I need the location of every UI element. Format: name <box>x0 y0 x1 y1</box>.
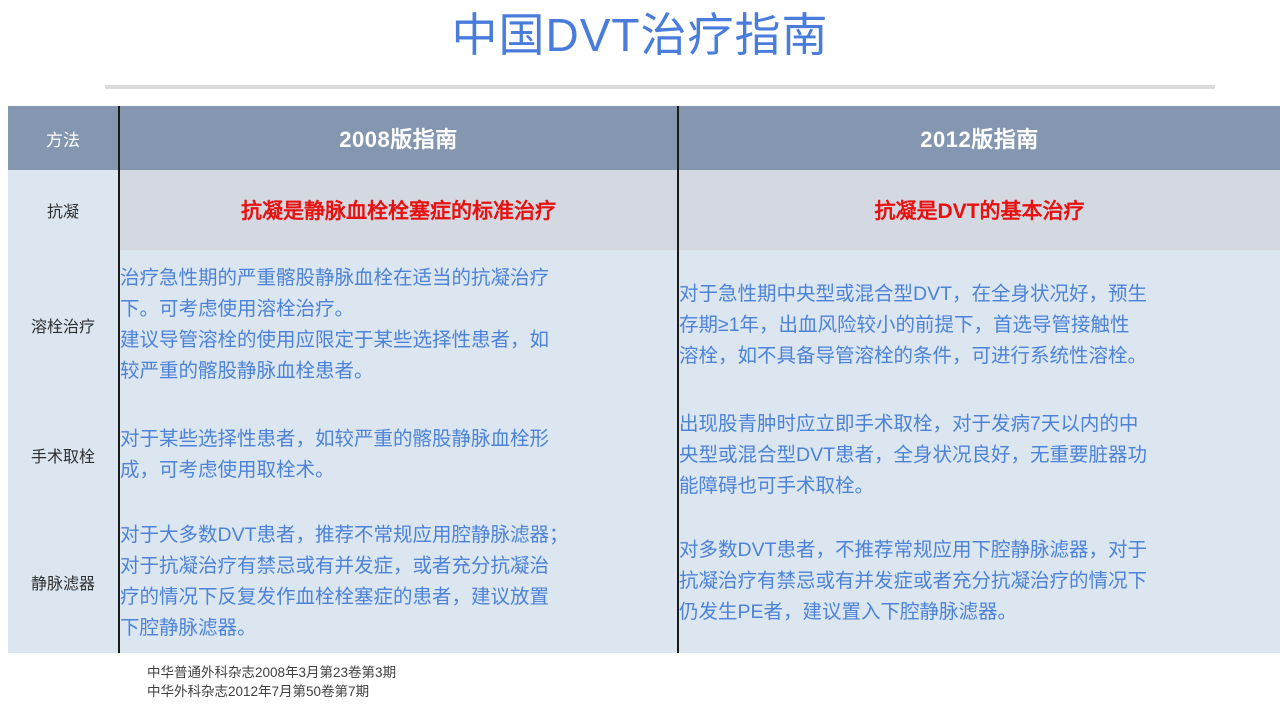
cell-2012-thrombolysis: 对于急性期中央型或混合型DVT，在全身状况好，预生 存期≥1年，出血风险较小的前… <box>678 250 1280 400</box>
table-row: 抗凝 抗凝是静脉血栓栓塞症的标准治疗 抗凝是DVT的基本治疗 <box>8 170 1280 250</box>
source-citations: 中华普通外科杂志2008年3月第23卷第3期 中华外科杂志2012年7月第50卷… <box>147 663 396 701</box>
text-line: 下。可考虑使用溶栓治疗。 <box>120 294 677 325</box>
column-header-2008: 2008版指南 <box>119 106 678 170</box>
cell-2012-vena-cava-filter: 对多数DVT患者，不推荐常规应用下腔静脉滤器，对于 抗凝治疗有禁忌或有并发症或者… <box>678 510 1280 653</box>
cell-2012-anticoagulation: 抗凝是DVT的基本治疗 <box>678 170 1280 250</box>
table-row: 静脉滤器 对于大多数DVT患者，推荐不常规应用腔静脉滤器； 对于抗凝治疗有禁忌或… <box>8 510 1280 653</box>
text-line: 治疗急性期的严重髂股静脉血栓在适当的抗凝治疗 <box>120 263 677 294</box>
text-line: 溶栓，如不具备导管溶栓的条件，可进行系统性溶栓。 <box>679 341 1280 372</box>
row-label-vena-cava-filter: 静脉滤器 <box>8 510 119 653</box>
text-line: 疗的情况下反复发作血栓栓塞症的患者，建议放置 <box>120 582 677 613</box>
text-line: 对于急性期中央型或混合型DVT，在全身状况好，预生 <box>679 279 1280 310</box>
citation-2012: 中华外科杂志2012年7月第50卷第7期 <box>147 682 396 701</box>
text-line: 能障碍也可手术取栓。 <box>679 471 1280 502</box>
cell-2008-thrombolysis: 治疗急性期的严重髂股静脉血栓在适当的抗凝治疗 下。可考虑使用溶栓治疗。 建议导管… <box>119 250 678 400</box>
row-label-surgical-thrombectomy: 手术取栓 <box>8 400 119 510</box>
cell-2008-vena-cava-filter: 对于大多数DVT患者，推荐不常规应用腔静脉滤器； 对于抗凝治疗有禁忌或有并发症，… <box>119 510 678 653</box>
text-line: 下腔静脉滤器。 <box>120 613 677 644</box>
dvt-guideline-comparison-table: 方法 2008版指南 2012版指南 抗凝 抗凝是静脉血栓栓塞症的标准治疗 抗凝… <box>8 106 1280 653</box>
table-header-row: 方法 2008版指南 2012版指南 <box>8 106 1280 170</box>
text-line: 较严重的髂股静脉血栓患者。 <box>120 356 677 387</box>
cell-2008-surgical-thrombectomy: 对于某些选择性患者，如较严重的髂股静脉血栓形 成，可考虑使用取栓术。 <box>119 400 678 510</box>
table-row: 溶栓治疗 治疗急性期的严重髂股静脉血栓在适当的抗凝治疗 下。可考虑使用溶栓治疗。… <box>8 250 1280 400</box>
cell-2008-anticoagulation: 抗凝是静脉血栓栓塞症的标准治疗 <box>119 170 678 250</box>
row-label-thrombolysis: 溶栓治疗 <box>8 250 119 400</box>
text-line: 对于抗凝治疗有禁忌或有并发症，或者充分抗凝治 <box>120 551 677 582</box>
title-divider <box>105 85 1215 89</box>
column-header-method: 方法 <box>8 106 119 170</box>
text-line: 抗凝治疗有禁忌或有并发症或者充分抗凝治疗的情况下 <box>679 566 1280 597</box>
citation-2008: 中华普通外科杂志2008年3月第23卷第3期 <box>147 663 396 682</box>
row-label-anticoagulation: 抗凝 <box>8 170 119 250</box>
text-line: 存期≥1年，出血风险较小的前提下，首选导管接触性 <box>679 310 1280 341</box>
text-line: 对多数DVT患者，不推荐常规应用下腔静脉滤器，对于 <box>679 535 1280 566</box>
text-line: 央型或混合型DVT患者，全身状况良好，无重要脏器功 <box>679 440 1280 471</box>
page-title: 中国DVT治疗指南 <box>0 4 1280 66</box>
text-line: 出现股青肿时应立即手术取栓，对于发病7天以内的中 <box>679 409 1280 440</box>
text-line: 建议导管溶栓的使用应限定于某些选择性患者，如 <box>120 325 677 356</box>
column-header-2012: 2012版指南 <box>678 106 1280 170</box>
table-row: 手术取栓 对于某些选择性患者，如较严重的髂股静脉血栓形 成，可考虑使用取栓术。 … <box>8 400 1280 510</box>
text-line: 仍发生PE者，建议置入下腔静脉滤器。 <box>679 597 1280 628</box>
cell-2012-surgical-thrombectomy: 出现股青肿时应立即手术取栓，对于发病7天以内的中 央型或混合型DVT患者，全身状… <box>678 400 1280 510</box>
text-line: 成，可考虑使用取栓术。 <box>120 455 677 486</box>
text-line: 对于某些选择性患者，如较严重的髂股静脉血栓形 <box>120 424 677 455</box>
text-line: 对于大多数DVT患者，推荐不常规应用腔静脉滤器； <box>120 520 677 551</box>
